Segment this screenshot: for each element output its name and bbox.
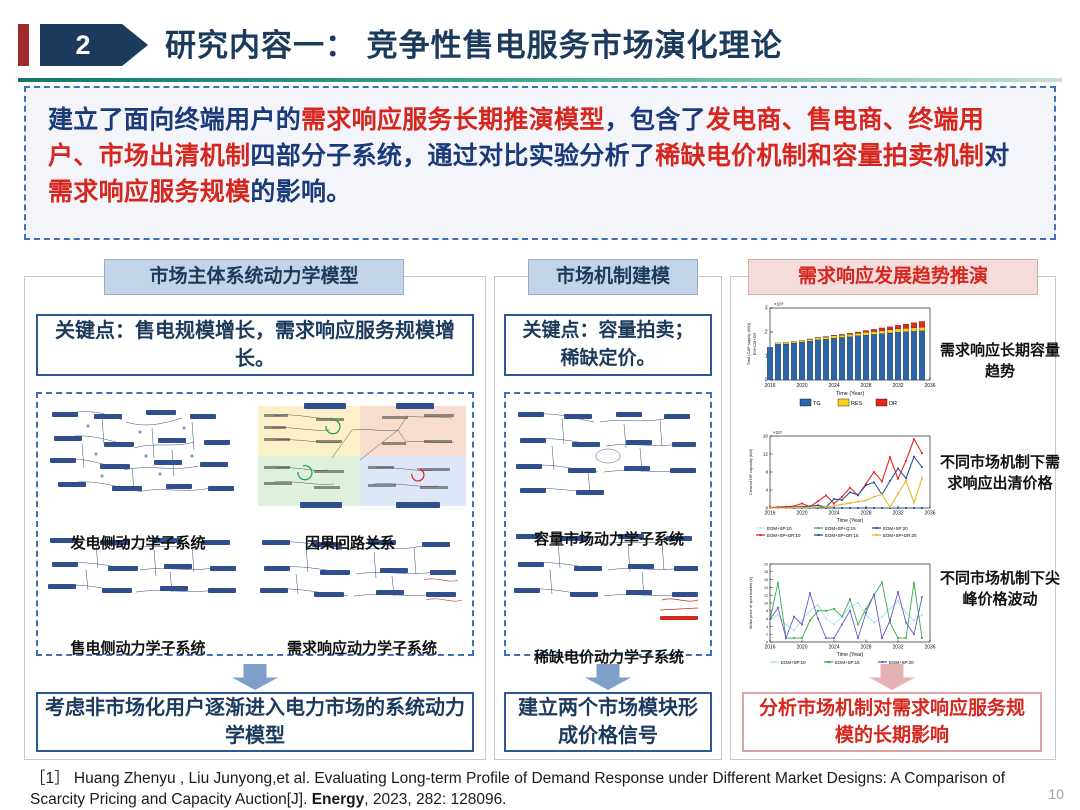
abstract-segment: 的影响。 [250, 178, 351, 206]
diagram-label-demand-response: 需求响应动力学子系统 [272, 637, 452, 658]
chart-text: 2028 [860, 511, 871, 517]
chart-text: EOM+SP:20 [883, 526, 908, 531]
diagram-area-left [36, 392, 474, 656]
diagram-label-scarcity-price: 稀缺电价动力学子系统 [524, 646, 694, 667]
chart-text: EOM+SP+Q:15 [825, 526, 856, 531]
chart-text: 2 [765, 330, 768, 336]
chart-text: 2016 [764, 511, 775, 517]
chart-text: 2 [766, 633, 768, 637]
abstract-segment: 需求响应服务规模 [48, 178, 250, 206]
abstract-segment: 需求响应服务长期推演模型 [301, 106, 605, 134]
diagram-label-capacity-market: 容量市场动力学子系统 [524, 528, 694, 549]
abstract-segment: 四部分子系统，通过对比实验分析了 [250, 142, 655, 170]
citation-text: ［1］ Huang Zhenyu , Liu Junyong,et al. Ev… [30, 770, 1005, 808]
chart-text: 2032 [892, 383, 903, 389]
diagram-label-retail: 售电侧动力学子系统 [48, 637, 228, 658]
chart-text: EOM+SP:10 [781, 660, 806, 665]
page-number: 10 [1048, 786, 1064, 802]
sd-diagram-capacity-market [512, 400, 704, 510]
header-accent-bar [18, 24, 29, 66]
keypoint-box-left: 关键点：售电规模增长，需求响应服务规模增长。 [36, 314, 474, 376]
chart1-plot: 0123201620202024202820322036×10⁶Time (Ye… [746, 302, 936, 408]
sd-diagram-causal-loop [256, 402, 468, 512]
sd-diagram-generation [42, 398, 250, 512]
chart-text: 2036 [924, 511, 935, 517]
chart-text: 2020 [796, 645, 807, 651]
chart-cleared-dr-capacity: 0481216201620202024202820322036×10⁷Time … [742, 422, 937, 550]
chart2-plot: 0481216201620202024202820322036×10⁷Time … [748, 430, 936, 538]
conclusion-box-right: 分析市场机制对需求响应服务规模的长期影响 [742, 692, 1042, 752]
citation-footer: ［1］ Huang Zhenyu , Liu Junyong,et al. Ev… [30, 768, 1020, 810]
chart-text: EOM+SP+DR:20 [883, 533, 917, 538]
diagram-area-middle [504, 392, 712, 656]
chart-text: 2028 [860, 645, 871, 651]
chart-text: 2032 [892, 645, 903, 651]
abstract-segment: 稀缺电价机制和容量拍卖机制 [655, 142, 984, 170]
chart-text: 2024 [828, 645, 839, 651]
chart-text: 2028 [860, 383, 871, 389]
chart-text: ×10⁷ [773, 430, 783, 435]
chart-text: 6 [766, 617, 768, 621]
chart-text: 4 [766, 625, 768, 629]
chart3-plot: 0246810121416182020162020202420282032203… [748, 562, 936, 664]
chart-text: Cleared DR capacity (kW) [748, 448, 753, 495]
chart-text: 8 [765, 469, 768, 474]
chart-text: 2016 [764, 645, 775, 651]
chart-text: Time (Year) [837, 518, 864, 524]
header-divider [18, 78, 1062, 82]
citation-suffix: , 2023, 282: 128096. [364, 791, 506, 808]
chart-capacity-trend: 0123201620202024202820322036×10⁶Time (Ye… [742, 292, 937, 417]
chart-text: 2016 [764, 383, 775, 389]
conclusion-box-middle: 建立两个市场模块形成价格信号 [504, 692, 712, 752]
section-number-badge: 2 [40, 24, 148, 66]
chart-text: 12 [764, 594, 768, 598]
chart-text: 8 [766, 609, 768, 613]
chart-text: 18 [764, 570, 768, 574]
slide-header: 2 研究内容一： 竞争性售电服务市场演化理论 [0, 8, 1080, 70]
chart-text: 2020 [796, 511, 807, 517]
chart-text: 2036 [924, 645, 935, 651]
chart-text: 2032 [892, 511, 903, 517]
chart-text: RES [851, 401, 863, 407]
diagram-label-generation: 发电侧动力学子系统 [48, 532, 228, 553]
keypoint-box-middle: 关键点：容量拍卖；稀缺定价。 [504, 314, 712, 376]
chart-text: 2024 [828, 383, 839, 389]
chart-text: EOM+SP+DR:10 [767, 533, 801, 538]
chart-text: 2024 [828, 511, 839, 517]
panel-header-market-mechanism: 市场机制建模 [528, 259, 698, 295]
chart-text: DR [889, 401, 897, 407]
abstract-segment: ，包含了 [605, 106, 706, 134]
chart-text: 16 [764, 578, 768, 582]
abstract-box: 建立了面向终端用户的需求响应服务长期推演模型，包含了发电商、售电商、终端用户、市… [24, 86, 1056, 240]
chart-text: 2036 [924, 383, 935, 389]
abstract-segment: 对 [984, 142, 1009, 170]
chart-text: Time (Year) [837, 652, 864, 658]
chart-text: EOM+SP:15 [835, 660, 860, 665]
chart-text: Time (Year) [836, 391, 864, 397]
chart-text: 16 [763, 433, 769, 438]
chart-text: 4 [765, 487, 768, 492]
chart-text: EOM+SP:10 [767, 526, 792, 531]
citation-journal: Energy [312, 791, 365, 808]
chart-text: 14 [764, 586, 768, 590]
diagram-label-causal-loop: 因果回路关系 [280, 532, 420, 553]
chart-text: 12 [763, 451, 769, 456]
chart-text: 10 [764, 601, 768, 605]
abstract-segment: 建立了面向终端用户的 [48, 106, 301, 134]
chart-text: Strike price of spot market (¥) [748, 576, 753, 629]
chart-strike-price: 0246810121416182020162020202420282032203… [742, 554, 937, 682]
panel-header-dr-trend: 需求响应发展趋势推演 [748, 259, 1038, 295]
chart-note-peak-price: 不同市场机制下尖峰价格波动 [938, 568, 1062, 610]
conclusion-box-left: 考虑非市场化用户逐渐进入电力市场的系统动力学模型 [36, 692, 474, 752]
chart-text: 2020 [796, 383, 807, 389]
chart-text: 3 [765, 306, 768, 312]
chart-text: Total (CAP supply (kW)) [746, 322, 751, 365]
chart-note-clearing-price: 不同市场机制下需求响应出清价格 [938, 452, 1062, 494]
chart-text: 20 [764, 562, 768, 566]
page-title: 研究内容一： 竞争性售电服务市场演化理论 [165, 20, 783, 65]
chart-text: EOM+SP+DR:15 [825, 533, 859, 538]
chart-text: EM+CM+DR [752, 333, 757, 356]
chart-text: ×10⁶ [774, 302, 784, 307]
panel-header-market-actors: 市场主体系统动力学模型 [104, 259, 404, 295]
chart-note-capacity-trend: 需求响应长期容量趋势 [938, 340, 1062, 382]
abstract-text: 建立了面向终端用户的需求响应服务长期推演模型，包含了发电商、售电商、终端用户、市… [48, 102, 1034, 210]
chart-text: TG [813, 401, 821, 407]
